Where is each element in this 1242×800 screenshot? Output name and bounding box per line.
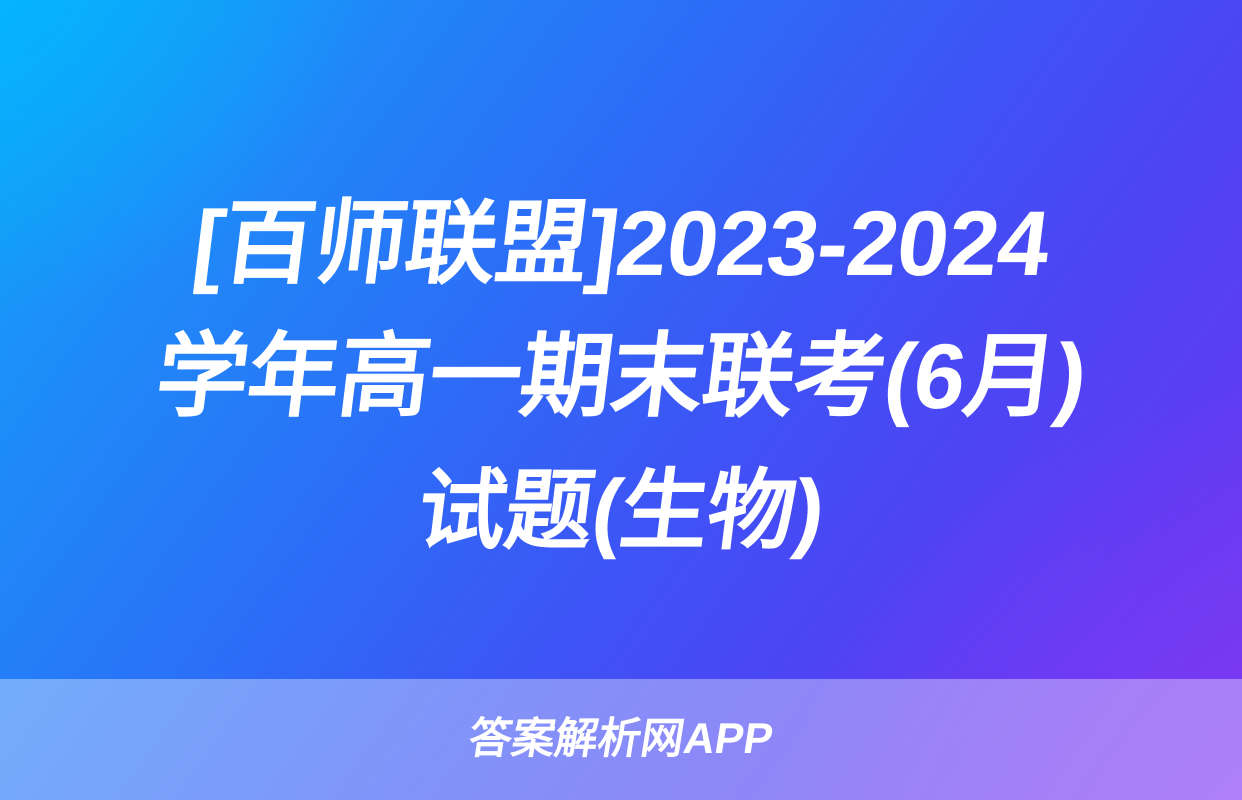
watermark-band: 答案解析网APP <box>0 679 1242 800</box>
watermark-app-label: 答案解析网APP <box>466 718 776 761</box>
exam-title: [百师联盟]2023-2024 学年高一期末联考(6月) 试题(生物) <box>0 178 1242 577</box>
exam-title-line-3: 试题(生物) <box>16 444 1226 577</box>
exam-cover-card: [百师联盟]2023-2024 学年高一期末联考(6月) 试题(生物) 答案解析… <box>0 0 1242 800</box>
exam-title-line-2: 学年高一期末联考(6月) <box>16 311 1226 444</box>
exam-title-line-1: [百师联盟]2023-2024 <box>16 178 1226 311</box>
